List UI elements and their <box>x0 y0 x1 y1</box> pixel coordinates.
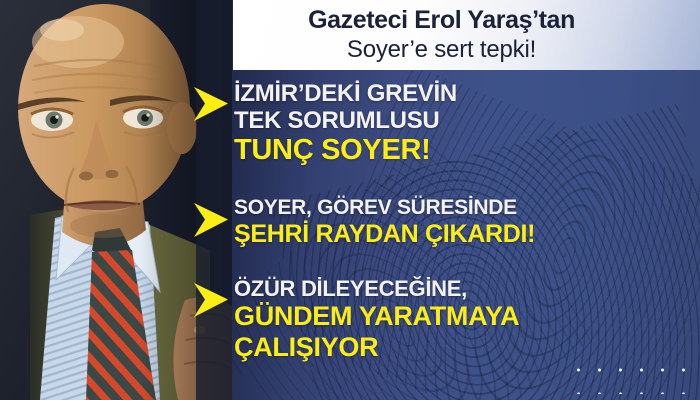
news-banner: Gazeteci Erol Yaraş’tan Soyer’e sert tep… <box>0 0 700 400</box>
headline-3-white-line-1: ÖZÜR DİLEYECEĞİNE, <box>234 276 519 301</box>
chevron-right-arrow-icon <box>192 80 234 124</box>
chevron-right-arrow-icon <box>192 196 234 240</box>
chevron-right-arrow-icon <box>192 276 234 320</box>
title-line-2: Soyer’e sert tepki! <box>191 35 692 65</box>
title-line-1: Gazeteci Erol Yaraş’tan <box>191 5 692 35</box>
headline-3-yellow-line-2: ÇALIŞIYOR <box>234 332 519 363</box>
headline-1-yellow-line-1: TUNÇ SOYER! <box>234 134 457 166</box>
headline-2-yellow-line-1: ŞEHRİ RAYDAN ÇIKARDI! <box>234 220 535 248</box>
headline-1-white-line-2: TEK SORUMLUSU <box>234 107 457 134</box>
headline-2-white-line-1: SOYER, GÖREV SÜRESİNDE <box>234 196 535 220</box>
headline-block-2-lines: SOYER, GÖREV SÜRESİNDE ŞEHRİ RAYDAN ÇIKA… <box>234 196 535 248</box>
headline-block-1: İZMİR’DEKİ GREVİN TEK SORUMLUSU TUNÇ SOY… <box>192 80 457 166</box>
headline-block-3: ÖZÜR DİLEYECEĞİNE, GÜNDEM YARATMAYA ÇALI… <box>192 276 519 363</box>
title-box: Gazeteci Erol Yaraş’tan Soyer’e sert tep… <box>233 0 700 70</box>
headline-block-1-lines: İZMİR’DEKİ GREVİN TEK SORUMLUSU TUNÇ SOY… <box>234 80 457 166</box>
headline-3-yellow-line-1: GÜNDEM YARATMAYA <box>234 301 519 332</box>
headline-1-white-line-1: İZMİR’DEKİ GREVİN <box>234 80 457 107</box>
headline-block-2: SOYER, GÖREV SÜRESİNDE ŞEHRİ RAYDAN ÇIKA… <box>192 196 535 248</box>
headline-block-3-lines: ÖZÜR DİLEYECEĞİNE, GÜNDEM YARATMAYA ÇALI… <box>234 276 519 363</box>
